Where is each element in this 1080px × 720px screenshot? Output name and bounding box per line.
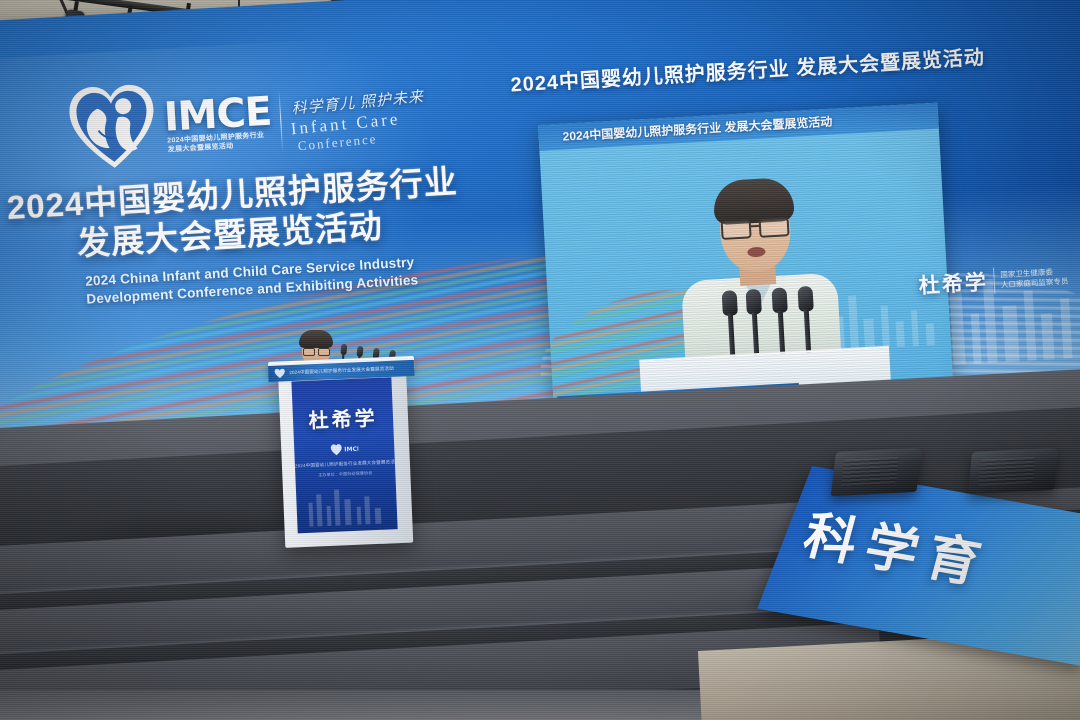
- podium-sign-line1: 2024中国婴幼儿照护服务行业发展大会暨展览活动: [295, 459, 395, 469]
- svg-text:IMCE: IMCE: [344, 446, 358, 454]
- imce-mini-logo-icon: IMCE: [330, 443, 358, 456]
- podium-speaker-name: 杜希学: [292, 401, 393, 434]
- stage-monitor-speaker: [831, 447, 922, 496]
- led-video-screen: 2024中国婴幼儿照护服务行业 发展大会暨展览活动: [538, 103, 954, 425]
- logo-divider: [279, 90, 284, 152]
- floor-banner-text: 科学育: [797, 493, 1000, 598]
- conference-stage-photo: 2024中国婴幼儿照护服务行业 发展大会暨展览活动 IMCE 2024中国婴幼儿…: [0, 0, 1080, 720]
- podium-sign-line2: 主办单位 : 中国妇幼保健协会: [295, 469, 395, 479]
- nameplate-divider: [993, 268, 995, 294]
- speaker-name-text: 杜希学: [918, 266, 989, 300]
- speaker-title-block: 国家卫生健康委 人口家庭司监察专员: [1000, 267, 1069, 291]
- heart-mother-and-child-logo: [66, 81, 159, 172]
- imce-mini-logo-icon: [274, 368, 285, 378]
- stage-monitor-speaker: [968, 447, 1058, 494]
- podium-band-text: 2024中国婴幼儿照护服务行业发展大会暨展览活动: [289, 366, 394, 376]
- podium-name-sign: 杜希学 IMCE 2024中国婴幼儿照护服务行业发展大会暨展览活动 主办单位 :…: [291, 377, 397, 533]
- backdrop-top-banner-text: 2024中国婴幼儿照护服务行业 发展大会暨展览活动: [510, 41, 986, 98]
- eyeglasses-icon: [303, 348, 330, 354]
- podium-skyline-graphic: [304, 484, 390, 527]
- stage-speaker-hair: [299, 330, 333, 348]
- eyeglasses-icon: [720, 217, 791, 236]
- podium: 杜希学 IMCE 2024中国婴幼儿照护服务行业发展大会暨展览活动 主办单位 :…: [278, 367, 413, 548]
